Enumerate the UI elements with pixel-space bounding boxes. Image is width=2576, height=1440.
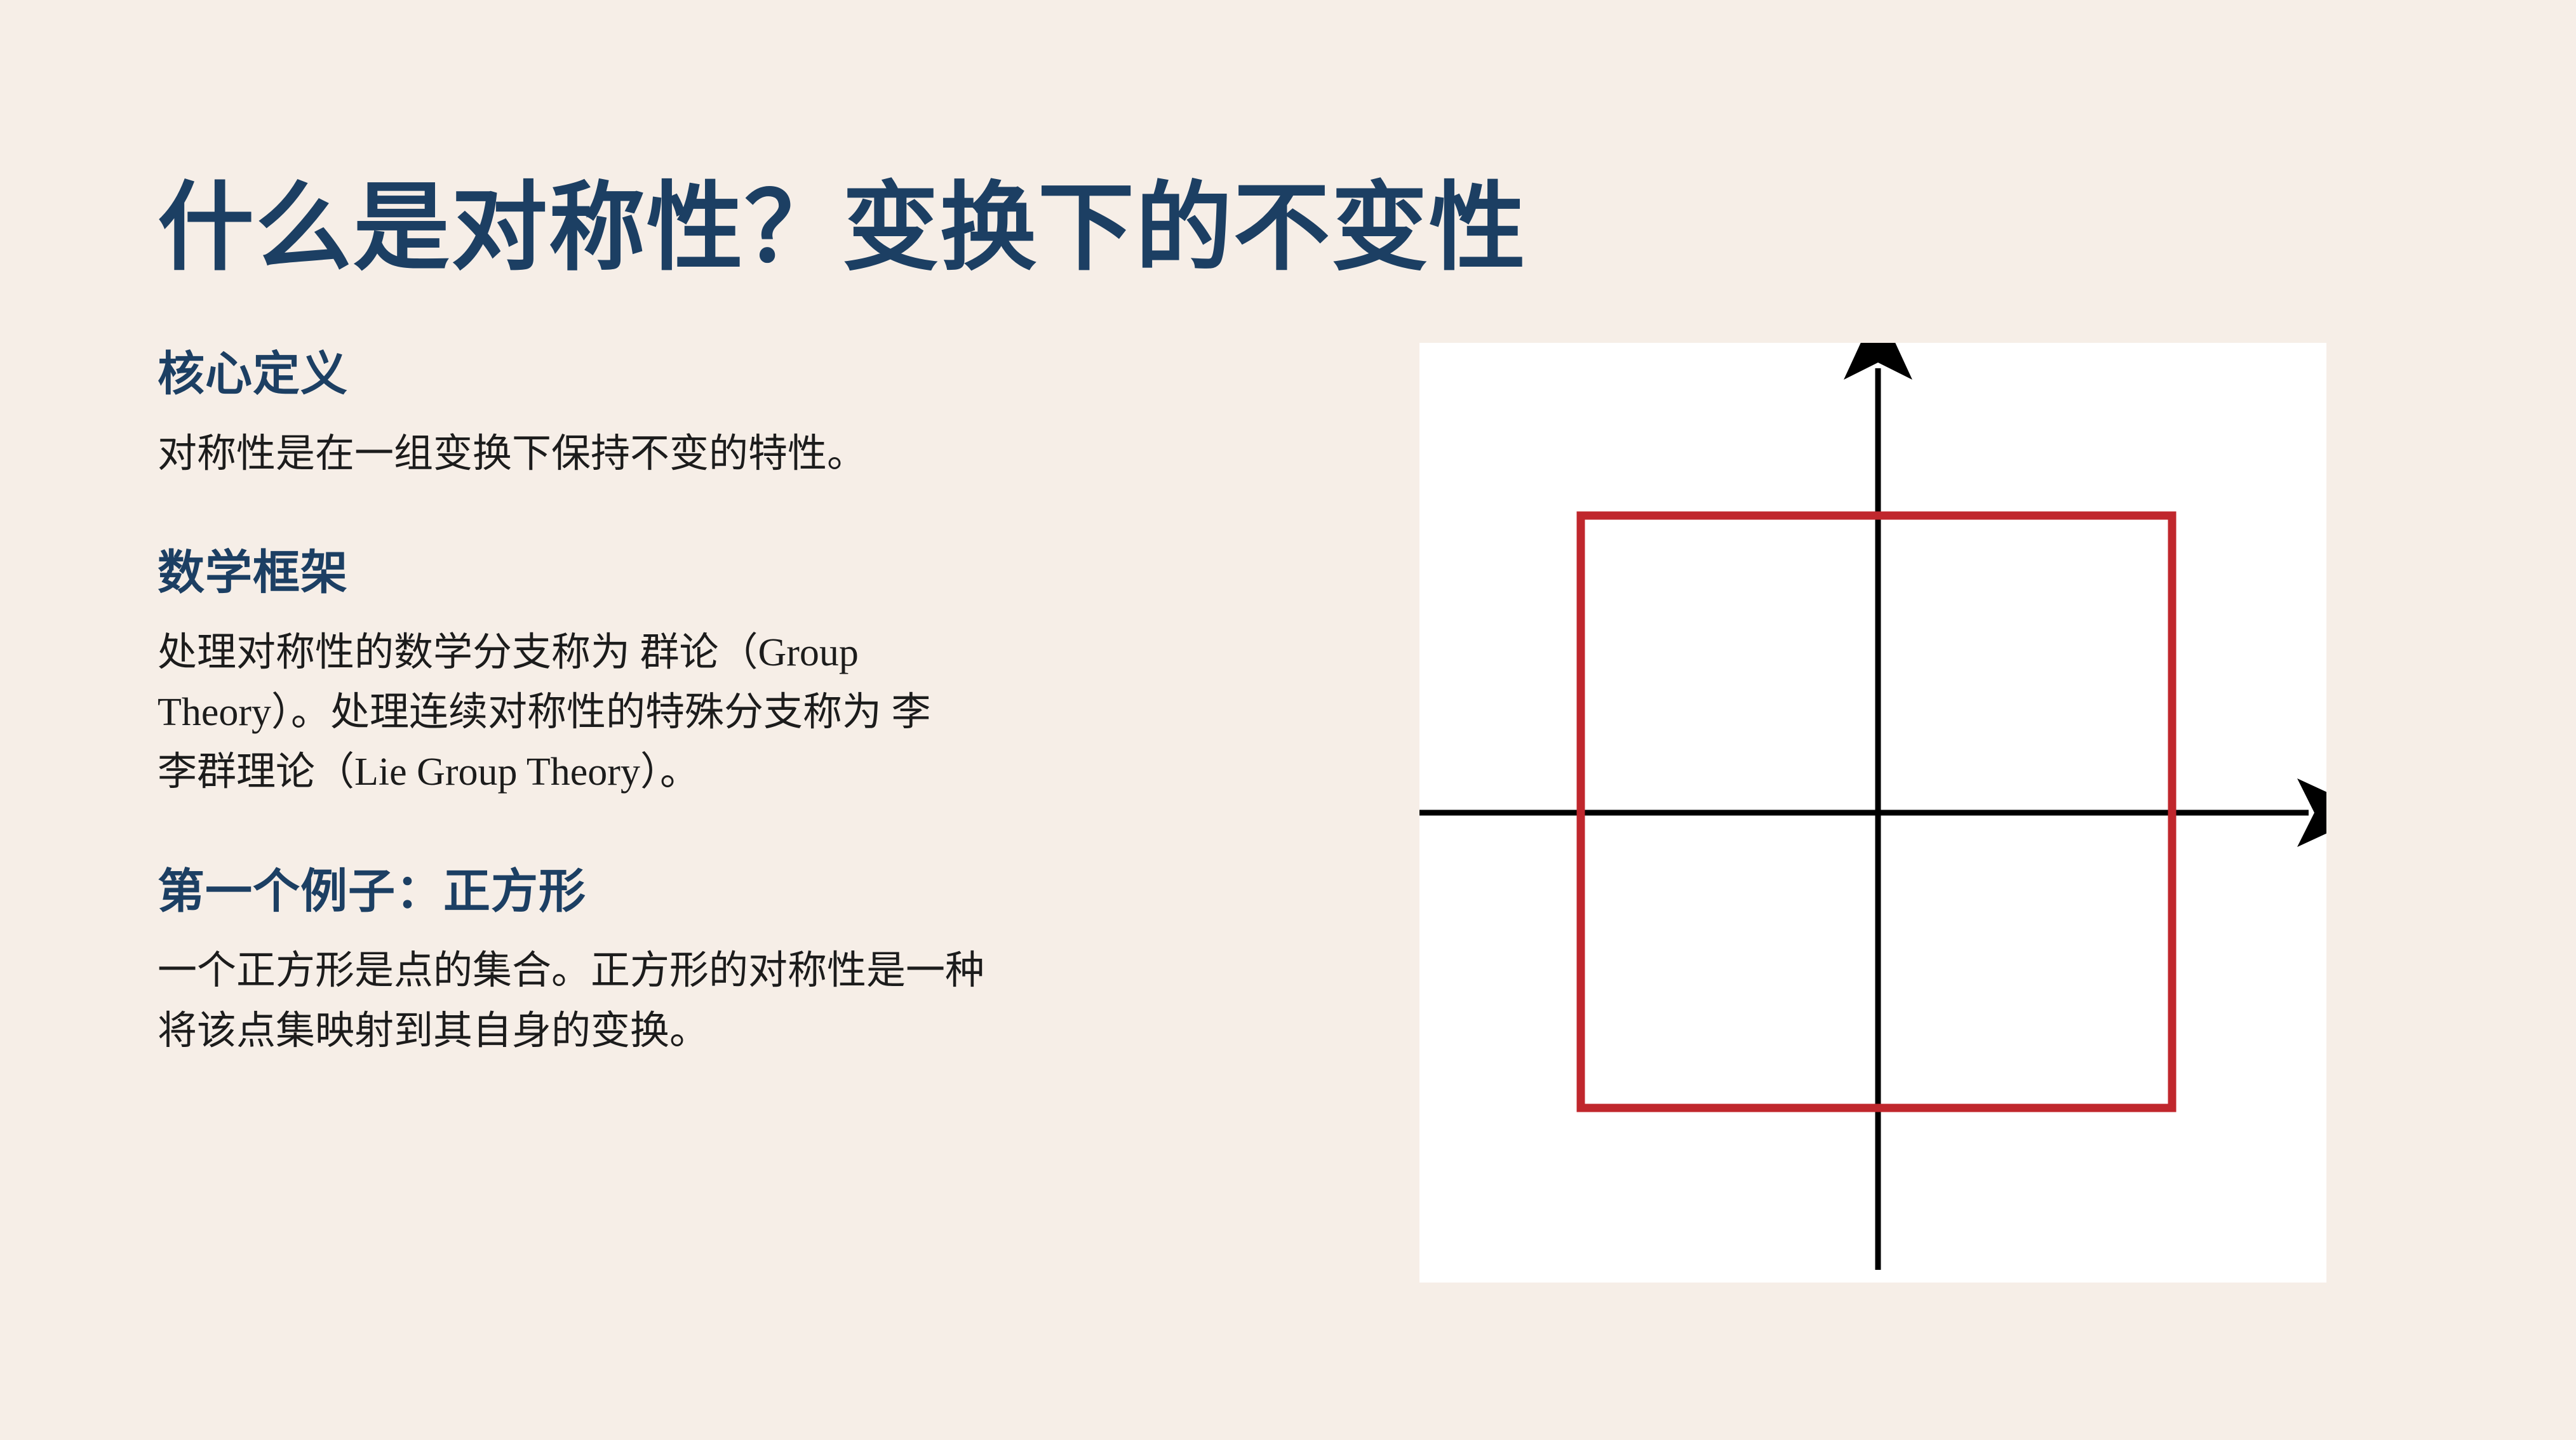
section-math-framework: 数学框架 处理对称性的数学分支称为 群论（Group Theory）。处理连续对…: [158, 545, 1275, 803]
first-example-line-1: 一个正方形是点的集合。正方形的对称性是一种: [158, 949, 984, 992]
section-body-first-example: 一个正方形是点的集合。正方形的对称性是一种 将该点集映射到其自身的变换。: [158, 941, 1275, 1060]
first-example-line-2: 将该点集映射到其自身的变换。: [158, 1009, 709, 1053]
square-on-axes-diagram: [1419, 343, 2326, 1283]
section-first-example: 第一个例子：正方形 一个正方形是点的集合。正方形的对称性是一种 将该点集映射到其…: [158, 863, 1275, 1061]
section-heading-core-definition: 核心定义: [158, 346, 1275, 403]
section-core-definition: 核心定义 对称性是在一组变换下保持不变的特性。: [158, 346, 1275, 484]
content-column: 核心定义 对称性是在一组变换下保持不变的特性。 数学框架 处理对称性的数学分支称…: [158, 346, 1275, 1061]
section-heading-first-example: 第一个例子：正方形: [158, 863, 1275, 920]
math-framework-line-2: Theory）。处理连续对称性的特殊分支称为 李: [158, 691, 931, 734]
math-framework-line-3: 李群理论（Lie Group Theory）。: [158, 750, 699, 794]
section-body-math-framework: 处理对称性的数学分支称为 群论（Group Theory）。处理连续对称性的特殊…: [158, 623, 1275, 803]
math-framework-line-1: 处理对称性的数学分支称为 群论（Group: [158, 631, 859, 674]
slide-root: 什么是对称性？变换下的不变性 核心定义 对称性是在一组变换下保持不变的特性。 数…: [0, 0, 2576, 1440]
figure-panel-square-on-axes: [1419, 343, 2326, 1283]
section-body-core-definition: 对称性是在一组变换下保持不变的特性。: [158, 424, 1275, 484]
section-heading-math-framework: 数学框架: [158, 545, 1275, 601]
page-title: 什么是对称性？变换下的不变性: [158, 171, 2380, 285]
